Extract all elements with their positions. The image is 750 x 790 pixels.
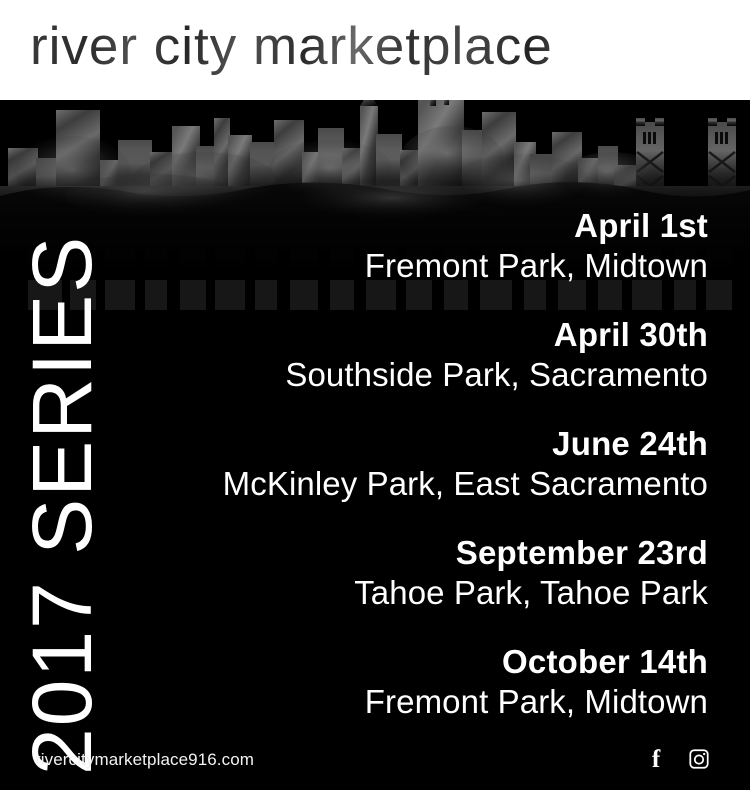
event-item: October 14th Fremont Park, Midtown	[148, 642, 708, 722]
website-url[interactable]: rivercitymarketplace916.com	[35, 749, 254, 771]
instagram-glyph	[688, 748, 710, 770]
event-location: Fremont Park, Midtown	[148, 246, 708, 286]
event-date: April 1st	[148, 206, 708, 246]
event-date: September 23rd	[148, 533, 708, 573]
instagram-icon[interactable]	[688, 746, 710, 772]
social-links: f	[645, 746, 710, 772]
event-item: June 24th McKinley Park, East Sacramento	[148, 424, 708, 504]
facebook-icon[interactable]: f	[645, 746, 667, 772]
facebook-glyph: f	[652, 747, 660, 772]
series-label: 2017 SERIES	[20, 235, 104, 775]
event-date: June 24th	[148, 424, 708, 464]
event-location: Tahoe Park, Tahoe Park	[148, 573, 708, 613]
event-item: September 23rd Tahoe Park, Tahoe Park	[148, 533, 708, 613]
footer: rivercitymarketplace916.com f	[0, 734, 750, 790]
event-date: April 30th	[148, 315, 708, 355]
event-location: Fremont Park, Midtown	[148, 682, 708, 722]
event-list: April 1st Fremont Park, Midtown April 30…	[148, 206, 708, 722]
event-location: Southside Park, Sacramento	[148, 355, 708, 395]
poster-root: river city marketplace 2017 SERIES April…	[0, 0, 750, 790]
event-item: April 1st Fremont Park, Midtown	[148, 206, 708, 286]
event-location: McKinley Park, East Sacramento	[148, 464, 708, 504]
page-title: river city marketplace	[30, 16, 720, 78]
event-item: April 30th Southside Park, Sacramento	[148, 315, 708, 395]
event-date: October 14th	[148, 642, 708, 682]
